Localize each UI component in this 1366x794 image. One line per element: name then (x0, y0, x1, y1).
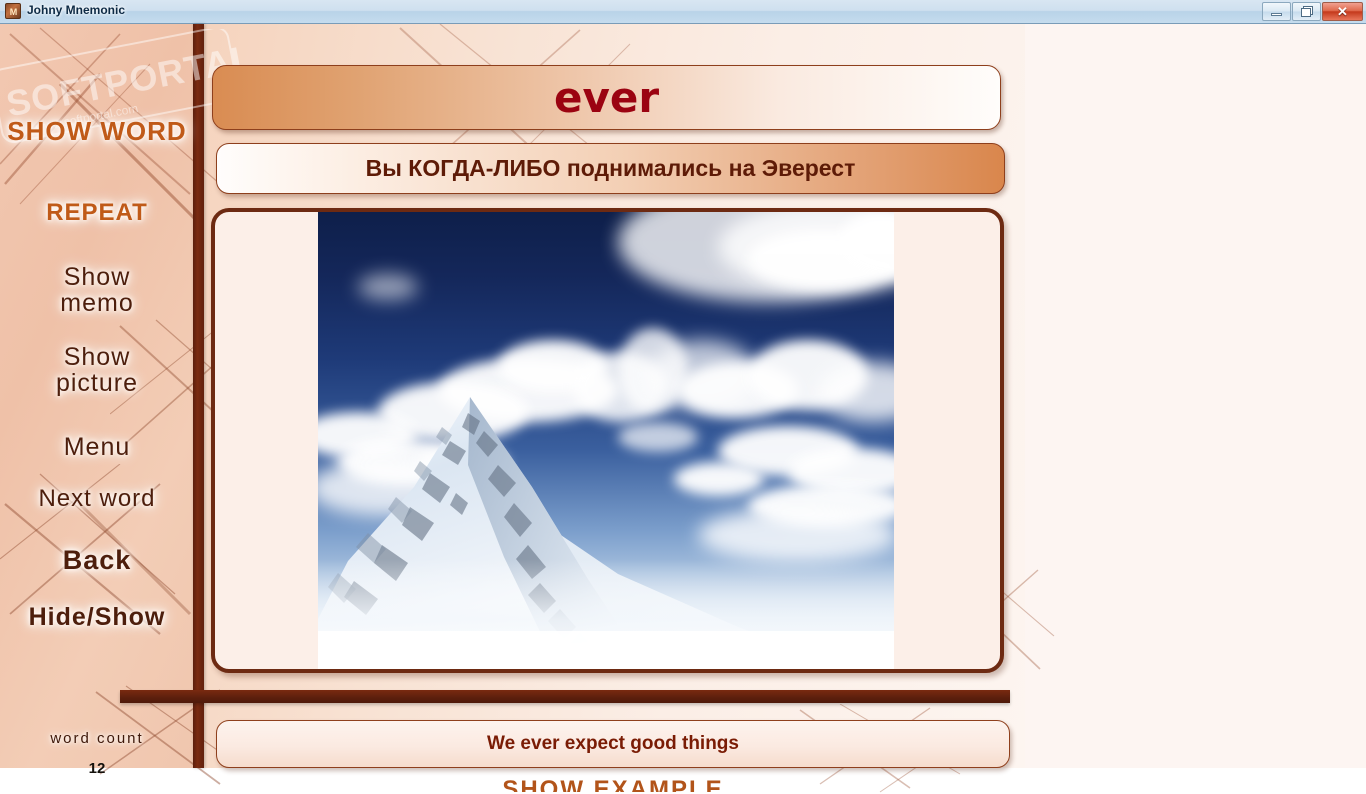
sidebar-item-label: Hide/Show (23, 604, 172, 630)
restore-button[interactable] (1292, 2, 1321, 21)
sidebar-item-show-picture[interactable]: Show picture (0, 344, 194, 397)
sidebar-item-next-word[interactable]: Next word (0, 486, 194, 511)
word-count-label-text: word count (45, 730, 148, 747)
example-panel[interactable]: We ever expect good things (216, 720, 1010, 768)
window-titlebar[interactable]: M Johny Mnemonic ✕ (0, 0, 1366, 24)
sidebar-item-show-word[interactable]: SHOW WORD (0, 118, 194, 145)
sidebar-item-hide-show[interactable]: Hide/Show (0, 604, 194, 630)
show-example-button[interactable]: SHOW EXAMPLE (216, 776, 1010, 792)
application-body: SOFTPORTAL www.softportal.com SHOW WORD … (0, 24, 1366, 768)
minimize-button[interactable] (1262, 2, 1291, 21)
sidebar-item-label: SHOW WORD (1, 118, 192, 145)
divider-vertical (193, 24, 204, 768)
sidebar-item-label: Menu (58, 434, 137, 460)
minimize-icon (1263, 3, 1290, 20)
close-icon: ✕ (1323, 3, 1362, 20)
mountain-shape (318, 369, 894, 669)
sidebar-item-back[interactable]: Back (0, 546, 194, 574)
sidebar-item-label: REPEAT (40, 200, 154, 225)
sidebar-item-label: Show picture (50, 344, 144, 397)
restore-icon (1293, 3, 1320, 20)
mountain-photo (318, 212, 894, 669)
picture-panel[interactable] (211, 208, 1004, 673)
translation-text: Вы КОГДА-ЛИБО поднимались на Эверест (366, 155, 856, 182)
sidebar-item-menu[interactable]: Menu (0, 434, 194, 460)
sidebar-item-label: Next word (32, 486, 161, 511)
example-text: We ever expect good things (487, 733, 739, 755)
word-count-label: word count (0, 730, 194, 747)
sidebar-item-repeat[interactable]: REPEAT (0, 200, 194, 225)
word-title-panel[interactable]: ever (212, 65, 1001, 130)
window-title: Johny Mnemonic (27, 3, 125, 17)
word-count-value: 12 (0, 760, 194, 777)
translation-panel[interactable]: Вы КОГДА-ЛИБО поднимались на Эверест (216, 143, 1005, 194)
divider-horizontal (120, 690, 1010, 703)
sidebar-item-label: Show memo (54, 264, 139, 317)
page-title: ever (554, 73, 659, 122)
sidebar-item-label: Back (57, 546, 138, 574)
close-button[interactable]: ✕ (1322, 2, 1363, 21)
sidebar-item-show-memo[interactable]: Show memo (0, 264, 194, 317)
app-icon[interactable]: M (5, 3, 21, 19)
